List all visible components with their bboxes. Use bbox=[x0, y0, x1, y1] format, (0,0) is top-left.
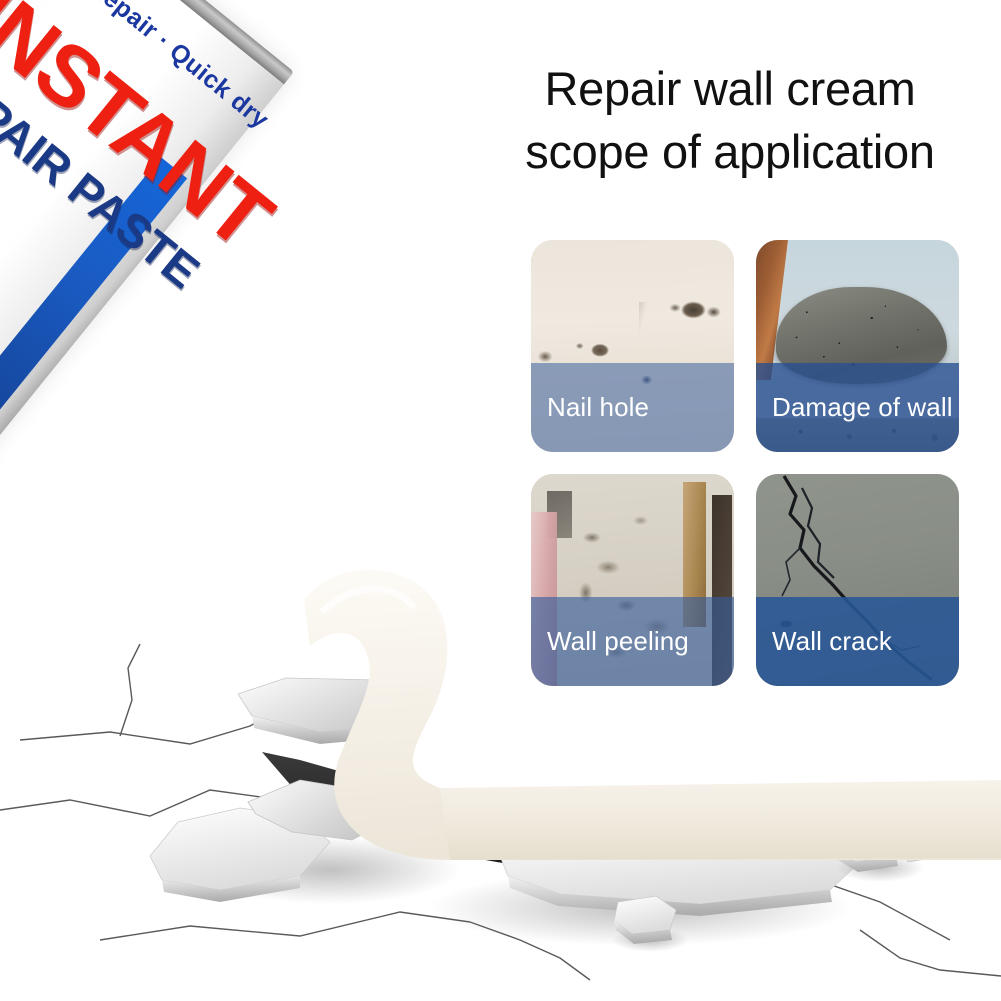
branch-crack bbox=[782, 548, 800, 596]
wall-shard-edge bbox=[252, 716, 408, 744]
product-tube: Seal&Repair · Quick dry INSTANT REPAIR P… bbox=[0, 0, 294, 538]
debris-chunk-edge bbox=[614, 920, 672, 944]
hairline-cracks bbox=[0, 644, 1001, 980]
debris-chunk bbox=[940, 806, 976, 824]
debris-chunk bbox=[614, 896, 676, 934]
wall-shard-edge bbox=[162, 876, 300, 902]
cracked-wall-svg bbox=[0, 640, 1001, 1001]
debris-shadow bbox=[612, 928, 688, 952]
paste-band bbox=[440, 780, 1001, 860]
wall-shard-edge bbox=[508, 876, 832, 916]
wall-shard bbox=[248, 780, 398, 840]
wall-shard bbox=[500, 828, 860, 904]
headline-line-1: Repair wall cream bbox=[470, 58, 990, 121]
wall-shard bbox=[150, 808, 330, 890]
crack-cavity-right bbox=[480, 816, 760, 866]
card-caption: Damage of wall bbox=[756, 363, 959, 452]
headline-line-2: scope of application bbox=[470, 121, 990, 184]
scope-card-nail-hole[interactable]: Nail hole bbox=[531, 240, 734, 452]
card-caption: Wall peeling bbox=[531, 597, 734, 686]
debris-chunk-edge bbox=[836, 850, 898, 872]
crack-cavity bbox=[262, 752, 560, 866]
scope-card-wall-crack[interactable]: Wall crack bbox=[756, 474, 959, 686]
debris-chunk bbox=[900, 844, 944, 862]
paste-highlight bbox=[322, 589, 414, 612]
card-caption: Wall crack bbox=[756, 597, 959, 686]
wall-shard bbox=[238, 678, 430, 732]
shard-shadow bbox=[430, 870, 850, 946]
page-title: Repair wall cream scope of application bbox=[470, 58, 990, 183]
debris-chunk bbox=[836, 828, 902, 862]
secondary-crack bbox=[802, 488, 834, 578]
scope-card-wall-peeling[interactable]: Wall peeling bbox=[531, 474, 734, 686]
card-caption: Nail hole bbox=[531, 363, 734, 452]
scope-card-damage-of-wall[interactable]: Damage of wall bbox=[756, 240, 959, 452]
cracked-wall-illustration bbox=[0, 640, 1001, 1001]
debris-shadow bbox=[836, 854, 924, 882]
product-marketing-banner: Seal&Repair · Quick dry INSTANT REPAIR P… bbox=[0, 0, 1001, 1001]
application-scope-grid: Nail hole Damage of wall Wall peeling bbox=[531, 240, 975, 690]
shard-shadow bbox=[200, 836, 460, 904]
